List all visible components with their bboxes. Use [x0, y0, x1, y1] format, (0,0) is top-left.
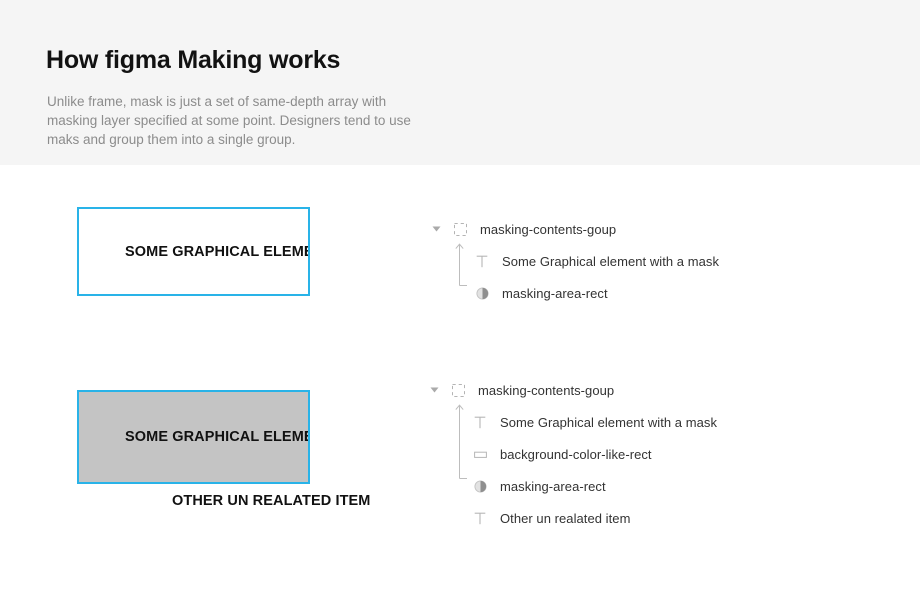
dashed-square-group-icon [450, 382, 466, 398]
mask-half-circle-icon [474, 285, 490, 301]
layer-name-child-1-0: Some Graphical element with a mask [502, 254, 719, 269]
layer-row-child-2-0[interactable]: Some Graphical element with a mask [426, 406, 717, 438]
layer-row-child-2-3[interactable]: Other un realated item [426, 502, 717, 534]
layer-tree-1: masking-contents-goup Some Graphical ele… [428, 213, 719, 309]
layer-name-group-1: masking-contents-goup [480, 222, 616, 237]
text-layer-icon [472, 510, 488, 526]
layer-name-child-1-1: masking-area-rect [502, 286, 608, 301]
examples-canvas: SOME GRAPHICAL ELEME SOME GRAPHICAL ELEM… [0, 165, 920, 597]
rectangle-layer-icon [472, 446, 488, 462]
layer-name-child-2-3: Other un realated item [500, 511, 630, 526]
text-layer-icon [474, 253, 490, 269]
layer-row-group-2[interactable]: masking-contents-goup [426, 374, 717, 406]
layer-name-group-2: masking-contents-goup [478, 383, 614, 398]
chevron-down-icon[interactable] [426, 382, 442, 398]
layer-row-group-1[interactable]: masking-contents-goup [428, 213, 719, 245]
chevron-down-icon[interactable] [428, 221, 444, 237]
layer-tree-2: masking-contents-goup Some Graphical ele… [426, 374, 717, 534]
page-subtitle: Unlike frame, mask is just a set of same… [47, 92, 437, 149]
text-layer-icon [472, 414, 488, 430]
layer-name-child-2-0: Some Graphical element with a mask [500, 415, 717, 430]
dashed-square-group-icon [452, 221, 468, 237]
artboard-masked-group-1[interactable]: SOME GRAPHICAL ELEME [77, 207, 310, 296]
layer-row-child-2-1[interactable]: background-color-like-rect [426, 438, 717, 470]
layer-name-child-2-1: background-color-like-rect [500, 447, 652, 462]
mask-half-circle-icon [472, 478, 488, 494]
header-band: How figma Making works Unlike frame, mas… [0, 0, 920, 165]
layer-row-child-2-2[interactable]: masking-area-rect [426, 470, 717, 502]
layer-row-child-1-1[interactable]: masking-area-rect [428, 277, 719, 309]
artboard-masked-group-2[interactable]: SOME GRAPHICAL ELEME [77, 390, 310, 484]
artboard-label-2: SOME GRAPHICAL ELEME [125, 429, 310, 445]
page-title: How figma Making works [46, 46, 340, 75]
unrelated-item-label: OTHER UN REALATED ITEM [172, 493, 370, 509]
artboard-label-1: SOME GRAPHICAL ELEME [125, 244, 310, 260]
layer-name-child-2-2: masking-area-rect [500, 479, 606, 494]
layer-row-child-1-0[interactable]: Some Graphical element with a mask [428, 245, 719, 277]
